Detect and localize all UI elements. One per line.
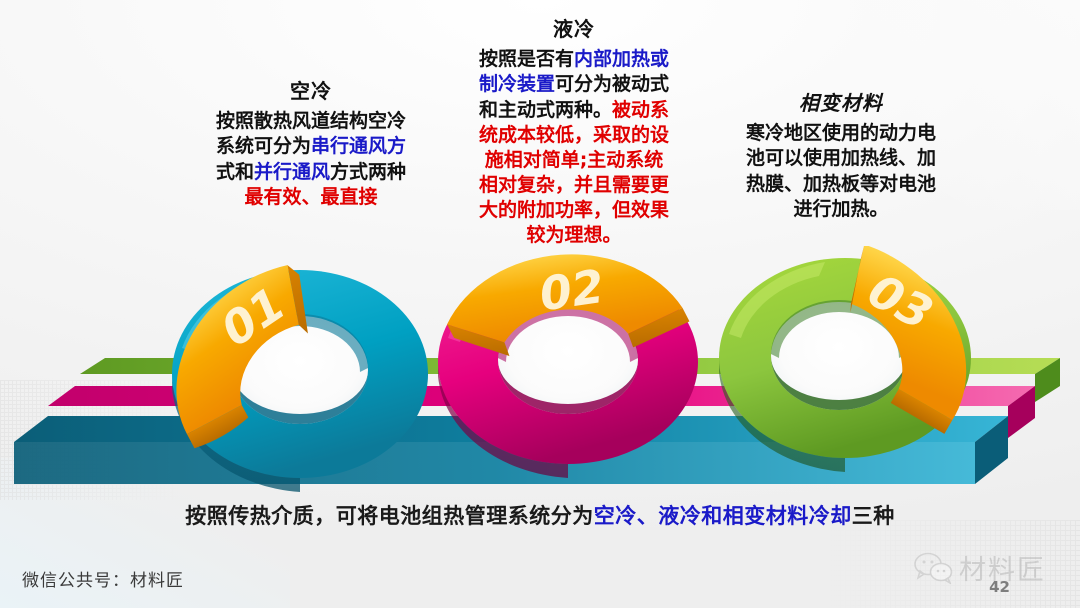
body-liquid-cooling: 按照是否有内部加热或制冷装置可分为被动式和主动式两种。被动系统成本较低，采取的设… bbox=[450, 47, 698, 248]
text-segment: 池可以使用加热线、加 bbox=[746, 147, 936, 169]
text-segment: 和主动式两种。 bbox=[479, 99, 612, 121]
text-segment: 并行通风 bbox=[254, 161, 330, 183]
text-segment: 相对复杂，并且需要更 bbox=[479, 174, 669, 196]
text-segment: 寒冷地区使用的动力电 bbox=[746, 122, 936, 144]
text-segment: 内部加热或 bbox=[574, 48, 669, 70]
text-block-air-cooling: 空冷 按照散热风道结构空冷系统可分为串行通风方式和并行通风方式两种最有效、最直接 bbox=[178, 78, 444, 210]
body-phase-change: 寒冷地区使用的动力电池可以使用加热线、加热膜、加热板等对电池进行加热。 bbox=[712, 121, 970, 221]
heading-liquid-cooling: 液冷 bbox=[450, 16, 698, 42]
text-segment: 最有效、最直接 bbox=[244, 186, 377, 208]
text-line: 进行加热。 bbox=[712, 197, 970, 222]
text-segment: 式和 bbox=[216, 161, 254, 183]
text-segment: 进行加热。 bbox=[793, 198, 888, 220]
wechat-icon bbox=[913, 552, 953, 584]
text-segment: 大的附加功率，但效果 bbox=[479, 199, 669, 221]
text-segment: 串行通风方 bbox=[311, 135, 406, 157]
text-segment: 热膜、加热板等对电池 bbox=[746, 173, 936, 195]
text-segment: 方式两种 bbox=[330, 161, 406, 183]
text-block-phase-change: 相变材料 寒冷地区使用的动力电池可以使用加热线、加热膜、加热板等对电池进行加热。 bbox=[712, 90, 970, 222]
caption-segment: 三种 bbox=[852, 504, 895, 528]
text-line: 式和并行通风方式两种 bbox=[178, 160, 444, 185]
text-segment: 统成本较低，采取的设 bbox=[479, 124, 669, 146]
text-line: 寒冷地区使用的动力电 bbox=[712, 121, 970, 146]
text-segment: 按照散热风道结构空冷 bbox=[216, 110, 406, 132]
ring-infographic: 01 02 03 bbox=[0, 246, 1080, 506]
text-line: 制冷装置可分为被动式 bbox=[450, 72, 698, 97]
text-line: 热膜、加热板等对电池 bbox=[712, 172, 970, 197]
heading-air-cooling: 空冷 bbox=[178, 78, 444, 104]
text-line: 统成本较低，采取的设 bbox=[450, 123, 698, 148]
text-line: 池可以使用加热线、加 bbox=[712, 146, 970, 171]
text-line: 相对复杂，并且需要更 bbox=[450, 173, 698, 198]
text-line: 系统可分为串行通风方 bbox=[178, 134, 444, 159]
text-segment: 可分为被动式 bbox=[555, 73, 669, 95]
text-segment: 按照是否有 bbox=[479, 48, 574, 70]
ring-number-02: 02 bbox=[536, 259, 607, 321]
text-segment: 被动系 bbox=[612, 99, 669, 121]
text-line: 最有效、最直接 bbox=[178, 185, 444, 210]
watermark: 材料匠 bbox=[913, 548, 1046, 587]
text-segment: 系统可分为 bbox=[216, 135, 311, 157]
text-line: 施相对简单;主动系统 bbox=[450, 148, 698, 173]
text-line: 按照是否有内部加热或 bbox=[450, 47, 698, 72]
text-segment: 施相对简单;主动系统 bbox=[485, 149, 664, 171]
text-line: 大的附加功率，但效果 bbox=[450, 198, 698, 223]
bottom-caption: 按照传热介质，可将电池组热管理系统分为空冷、液冷和相变材料冷却三种 bbox=[0, 500, 1080, 530]
page-number: 42 bbox=[989, 578, 1010, 596]
caption-segment: 按照传热介质，可将电池组热管理系统分为 bbox=[185, 504, 594, 528]
text-line: 按照散热风道结构空冷 bbox=[178, 109, 444, 134]
wechat-account-label: 微信公共号：材料匠 bbox=[22, 566, 184, 591]
text-line: 和主动式两种。被动系 bbox=[450, 98, 698, 123]
heading-phase-change: 相变材料 bbox=[712, 90, 970, 116]
text-block-liquid-cooling: 液冷 按照是否有内部加热或制冷装置可分为被动式和主动式两种。被动系统成本较低，采… bbox=[450, 16, 698, 248]
text-segment: 较为理想。 bbox=[526, 224, 621, 246]
caption-segment: 空冷、液冷和相变材料冷却 bbox=[594, 504, 852, 528]
body-air-cooling: 按照散热风道结构空冷系统可分为串行通风方式和并行通风方式两种最有效、最直接 bbox=[178, 109, 444, 209]
text-segment: 制冷装置 bbox=[479, 73, 555, 95]
text-line: 较为理想。 bbox=[450, 223, 698, 248]
